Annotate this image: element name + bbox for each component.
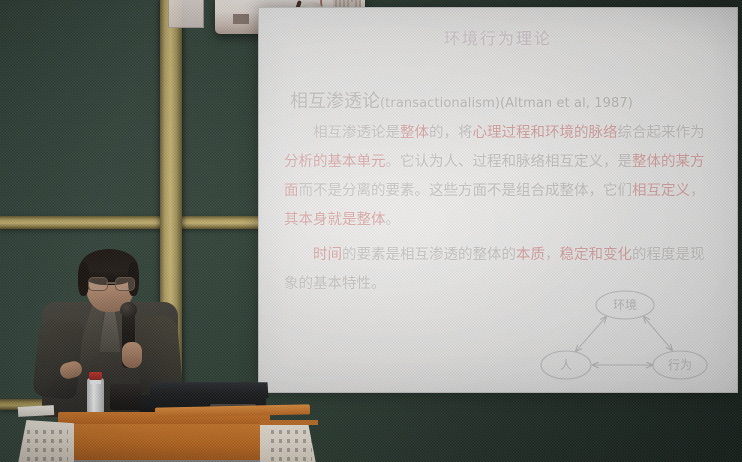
microphone-head	[120, 302, 137, 318]
lectern-front-panel	[58, 422, 270, 462]
projection-screen: 环境行为理论 相互渗透论(transactionalism)(Altman et…	[258, 7, 738, 393]
slide-heading: 相互渗透论(transactionalism)(Altman et al, 19…	[290, 87, 633, 113]
slide-text-run: 相互渗透论是	[313, 125, 400, 141]
lectern-side-panel-right	[260, 420, 318, 462]
lectern-vent-left	[22, 430, 68, 462]
lectern-trim-right	[260, 420, 318, 425]
lectern	[10, 402, 310, 462]
diagram-node-person-label: 人	[560, 358, 572, 372]
lectern-rail	[155, 404, 310, 417]
glasses-lens-left	[88, 277, 108, 291]
glasses-icon	[88, 277, 133, 289]
slide-text-run: 综合起来作为	[618, 125, 705, 141]
slide-title: 环境行为理论	[258, 25, 738, 49]
water-bottle-cap	[89, 372, 102, 380]
slide-text-run: ，	[545, 247, 560, 263]
slide-text-highlight: 稳定和变化	[560, 247, 633, 263]
slide-text-highlight: 相互定义	[632, 183, 690, 199]
slide-paragraph: 相互渗透论是整体的，将心理过程和环境的脉络综合起来作为分析的基本单元。它认为人、…	[284, 119, 716, 235]
slide-text-highlight: 整体	[400, 125, 429, 141]
transactionalism-diagram: 环境 人 行为	[540, 285, 710, 385]
diagram-node-env-label: 环境	[613, 297, 637, 312]
lecturer-hand-right	[122, 342, 142, 368]
projector-panel	[233, 14, 249, 24]
lectern-side-panel-left	[16, 420, 74, 462]
slide-text-highlight: 本质	[516, 247, 545, 263]
slide-text-run: 的，将	[429, 125, 473, 141]
slide-text-highlight: 其本身就是整体	[284, 212, 386, 228]
wall-poster	[168, 0, 204, 28]
diagram-edge-env-person	[576, 317, 606, 351]
slide-body: 相互渗透论是整体的，将心理过程和环境的脉络综合起来作为分析的基本单元。它认为人、…	[284, 119, 716, 305]
chalkboard-frame-horizontal-upper	[0, 216, 300, 229]
slide-text-run: 的要素是相互渗透的整体的	[342, 247, 516, 263]
diagram-node-behavior-label: 行为	[668, 358, 692, 372]
slide-heading-cn: 相互渗透论	[290, 91, 380, 112]
slide-text-highlight: 分析的基本单元	[284, 154, 386, 170]
glasses-lens-right	[115, 277, 135, 291]
slide-heading-en: (transactionalism)(Altman et al, 1987)	[380, 96, 633, 111]
slide-text-run: 。它认为人、过程和脉络相互定义，是	[386, 154, 633, 170]
lecture-photo-scene: 环境行为理论 相互渗透论(transactionalism)(Altman et…	[0, 0, 742, 462]
glasses-bridge	[106, 282, 115, 284]
slide-text-run: 。	[386, 212, 401, 228]
diagram-edge-env-behavior	[644, 317, 672, 350]
slide-text-run: ，	[690, 183, 705, 199]
slide-text-highlight: 时间	[313, 247, 342, 263]
lecturer-arm-left	[32, 318, 84, 400]
slide-text-run: 而不是分离的要素。这些方面不是组合成整体，它们	[299, 183, 633, 199]
lectern-vent-right	[266, 430, 312, 462]
slide-text-highlight: 心理过程和环境的脉络	[473, 125, 618, 141]
